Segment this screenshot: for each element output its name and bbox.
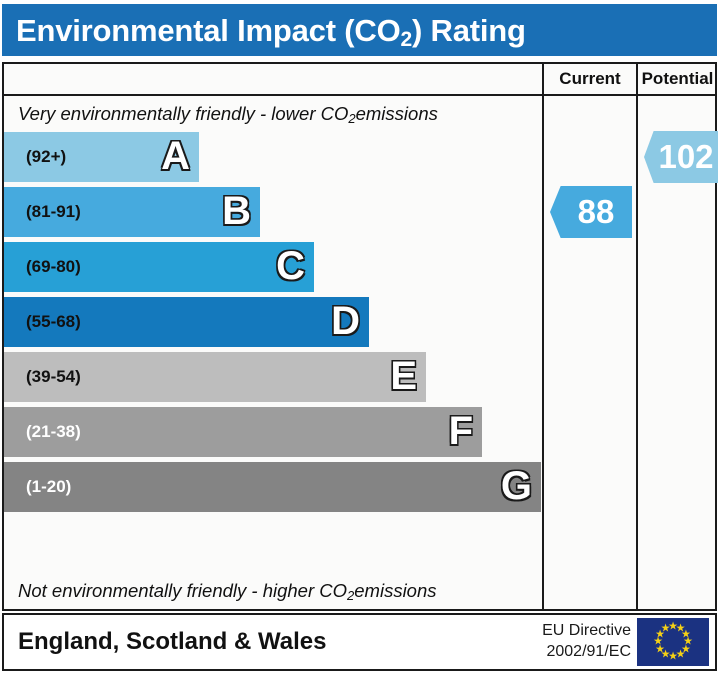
- band-range-label: (1-20): [4, 477, 71, 497]
- page-title-subscript: 2: [401, 28, 412, 51]
- column-separator-1: [542, 64, 544, 609]
- band-letter-b: B: [222, 191, 251, 231]
- eu-directive-label: EU Directive 2002/91/EC: [542, 621, 631, 663]
- band-list: (92+)A(81-91)B(69-80)C(55-68)D(39-54)E(2…: [4, 132, 542, 573]
- band-letter-c: C: [276, 246, 305, 286]
- current-rating-value: 88: [578, 193, 615, 231]
- band-letter-a: A: [161, 136, 190, 176]
- potential-rating-value: 102: [658, 138, 713, 176]
- epc-environmental-impact-certificate: Environmental Impact (CO2) Rating Curren…: [0, 0, 719, 675]
- caption-top-tail: emissions: [356, 103, 438, 125]
- chart-title-bar: Environmental Impact (CO2) Rating: [2, 4, 717, 56]
- eu-flag-star: ★: [661, 624, 671, 635]
- caption-bottom-subscript: 2: [347, 588, 354, 603]
- caption-bottom: Not environmentally friendly - higher CO…: [4, 573, 542, 609]
- rating-chart: Very environmentally friendly - lower CO…: [4, 96, 542, 609]
- footer-bar: England, Scotland & Wales EU Directive 2…: [2, 613, 717, 671]
- rating-band-e: (39-54)E: [4, 352, 426, 402]
- band-range-label: (55-68): [4, 312, 81, 332]
- band-letter-e: E: [390, 356, 417, 396]
- eu-directive-line1: EU Directive: [542, 621, 631, 642]
- band-range-label: (39-54): [4, 367, 81, 387]
- column-separator-2: [636, 64, 638, 609]
- band-letter-g: G: [501, 466, 532, 506]
- page-title-main: Environmental Impact (CO: [16, 13, 401, 48]
- rating-band-g: (1-20)G: [4, 462, 541, 512]
- potential-rating-badge: 102: [644, 131, 718, 183]
- column-header-potential: Potential: [638, 64, 717, 94]
- page-title-tail: ) Rating: [412, 13, 526, 48]
- band-range-label: (69-80): [4, 257, 81, 277]
- band-range-label: (21-38): [4, 422, 81, 442]
- caption-bottom-tail: emissions: [354, 580, 436, 602]
- page-title: Environmental Impact (CO2) Rating: [2, 15, 526, 46]
- caption-bottom-lead: Not environmentally friendly - higher CO: [18, 580, 347, 602]
- band-letter-f: F: [449, 411, 473, 451]
- band-range-label: (81-91): [4, 202, 81, 222]
- band-letter-d: D: [331, 301, 360, 341]
- eu-directive-line2: 2002/91/EC: [542, 642, 631, 663]
- current-rating-badge: 88: [550, 186, 632, 238]
- column-header-current: Current: [544, 64, 636, 94]
- rating-table: Current Potential Very environmentally f…: [2, 62, 717, 611]
- caption-top-lead: Very environmentally friendly - lower CO: [18, 103, 348, 125]
- rating-band-b: (81-91)B: [4, 187, 260, 237]
- eu-flag-icon: ★★★★★★★★★★★★: [637, 618, 709, 666]
- rating-band-c: (69-80)C: [4, 242, 314, 292]
- rating-band-f: (21-38)F: [4, 407, 482, 457]
- caption-top: Very environmentally friendly - lower CO…: [4, 96, 542, 132]
- column-header-row: Current Potential: [4, 64, 715, 96]
- caption-top-subscript: 2: [348, 111, 355, 126]
- footer-region-label: England, Scotland & Wales: [4, 628, 326, 656]
- rating-band-d: (55-68)D: [4, 297, 369, 347]
- rating-band-a: (92+)A: [4, 132, 199, 182]
- band-range-label: (92+): [4, 147, 66, 167]
